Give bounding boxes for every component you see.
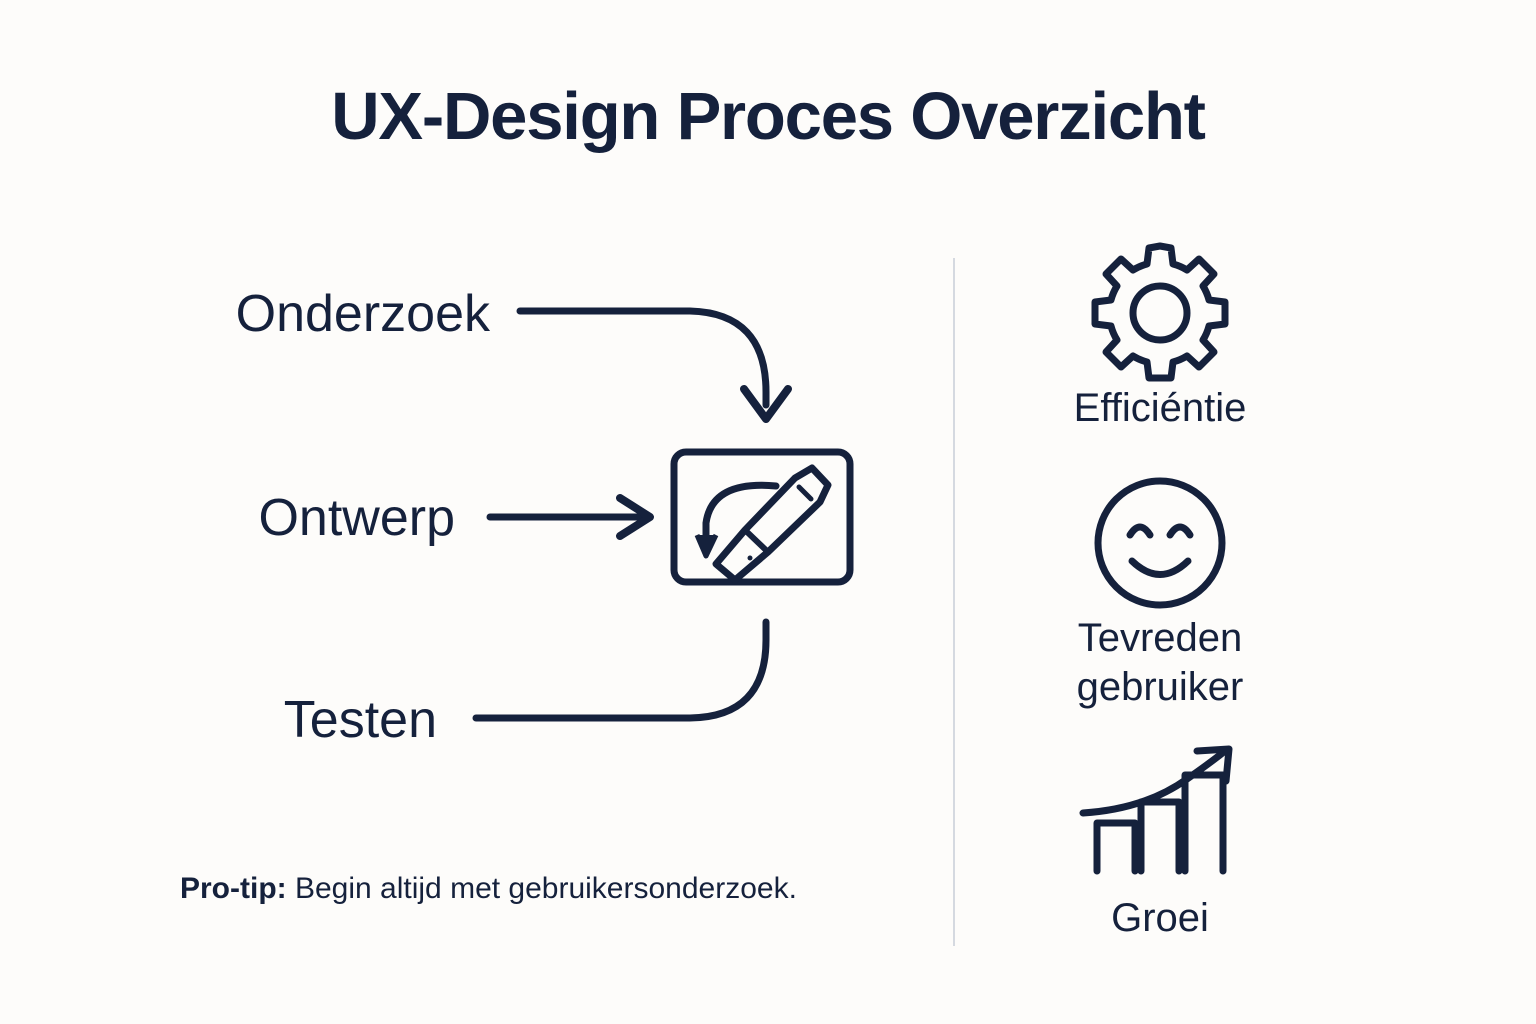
infographic-canvas: UX-Design Proces Overzicht [0, 0, 1536, 1024]
process-stage-ontwerp: Ontwerp [0, 488, 455, 548]
connector-onderzoek [520, 311, 788, 419]
outcome-label: Efficiéntie [990, 384, 1330, 433]
outcome-label: Groei [990, 894, 1330, 943]
connector-testen [476, 622, 766, 718]
pro-tip: Pro-tip: Begin altijd met gebruikersonde… [180, 872, 797, 906]
outcome-efficientie: Efficiéntie [990, 248, 1330, 433]
outcome-tevreden-gebruiker: Tevreden gebruiker [990, 478, 1330, 712]
gear-icon [990, 248, 1330, 378]
pro-tip-text: Begin altijd met gebruikersonderzoek. [287, 872, 797, 905]
pro-tip-lead: Pro-tip: [180, 872, 287, 905]
outcome-label: Tevreden gebruiker [990, 614, 1330, 712]
smiley-face-icon [990, 478, 1330, 608]
column-divider [953, 258, 955, 946]
page-title: UX-Design Proces Overzicht [0, 78, 1536, 155]
process-stage-testen: Testen [0, 690, 437, 750]
growth-chart-icon [990, 748, 1330, 888]
outcome-groei: Groei [990, 748, 1330, 943]
connector-ontwerp [490, 498, 650, 536]
design-edit-icon [674, 452, 850, 582]
process-stage-onderzoek: Onderzoek [0, 284, 490, 344]
